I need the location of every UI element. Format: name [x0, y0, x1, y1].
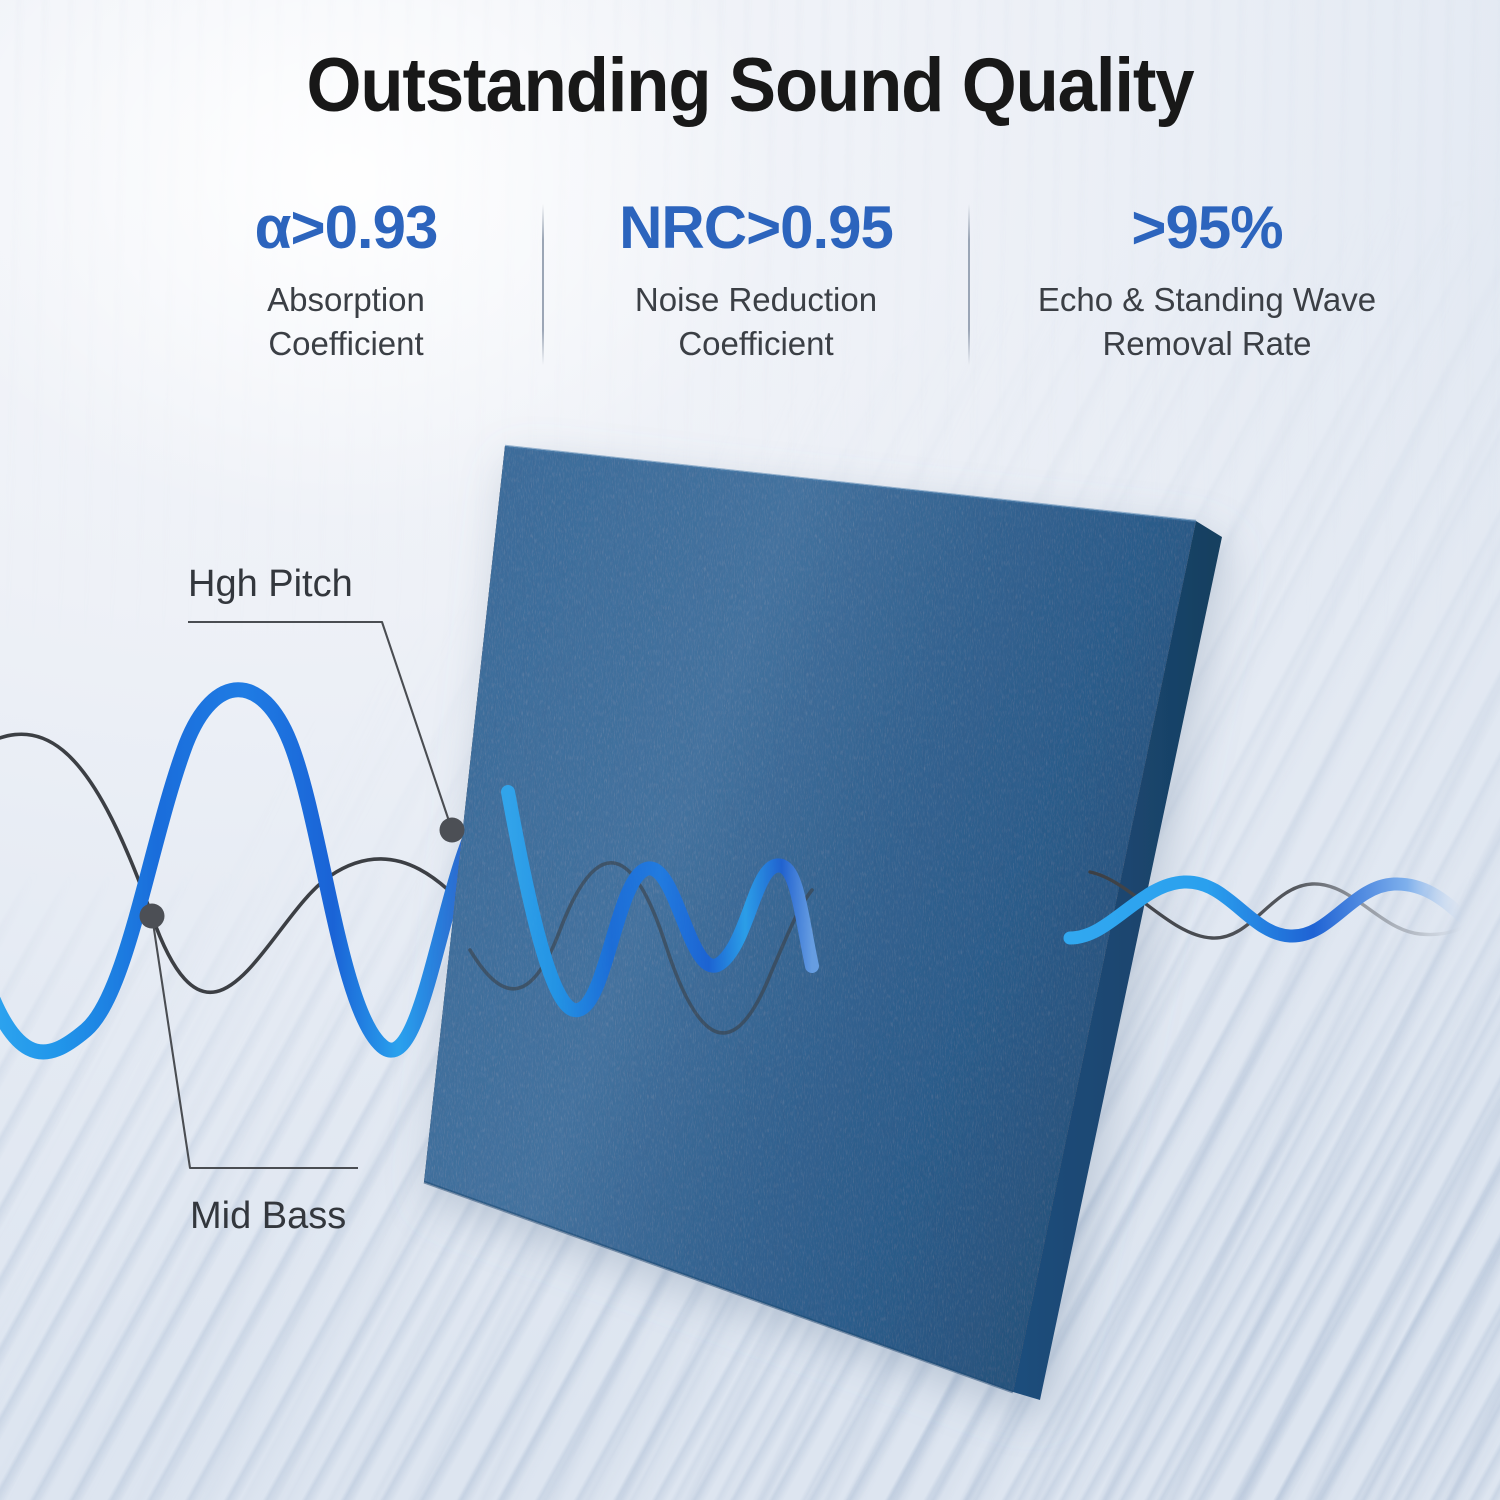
- mid-bass-leader-line: [152, 916, 358, 1168]
- high-pitch-wave-left: [0, 690, 520, 1052]
- high-pitch-leader-line: [188, 622, 452, 830]
- product-scene: Hgh Pitch Mid Bass: [0, 0, 1500, 1500]
- mid-bass-label: Mid Bass: [190, 1195, 346, 1237]
- high-pitch-callout: Hgh Pitch: [188, 563, 465, 843]
- high-pitch-label: Hgh Pitch: [188, 563, 353, 605]
- mid-bass-marker-dot: [140, 904, 165, 929]
- wave-group-left: [0, 690, 520, 1052]
- high-pitch-marker-dot: [440, 818, 465, 843]
- infographic-canvas: Outstanding Sound Quality α>0.93 Absorpt…: [0, 0, 1500, 1500]
- mid-bass-callout: Mid Bass: [140, 904, 359, 1238]
